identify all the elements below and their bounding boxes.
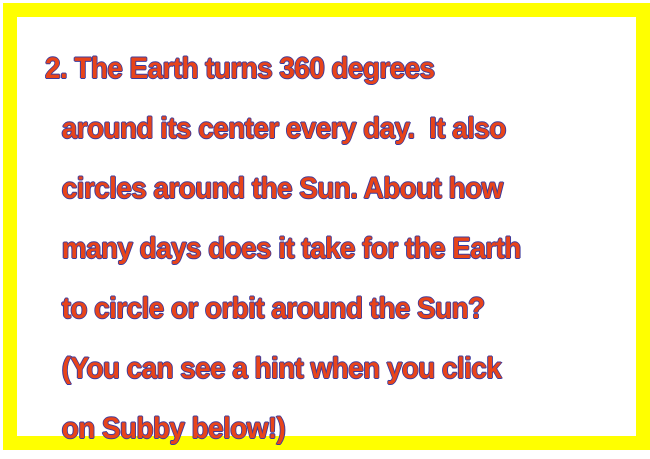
slide-canvas: 2. The Earth turns 360 degrees around it… (0, 0, 650, 450)
question-line-2: around its center every day. It also (45, 99, 612, 159)
question-text-block: 2. The Earth turns 360 degrees around it… (45, 39, 650, 439)
question-line-3: circles around the Sun. About how (45, 159, 612, 219)
question-line-4: many days does it take for the Earth (45, 219, 612, 279)
question-line-5: to circle or orbit around the Sun? (45, 279, 612, 339)
question-line-1: 2. The Earth turns 360 degrees (45, 39, 612, 99)
yellow-border-frame: 2. The Earth turns 360 degrees around it… (3, 3, 650, 450)
question-line-6: (You can see a hint when you click (45, 339, 612, 399)
question-line-7: on Subby below!) (45, 399, 612, 459)
